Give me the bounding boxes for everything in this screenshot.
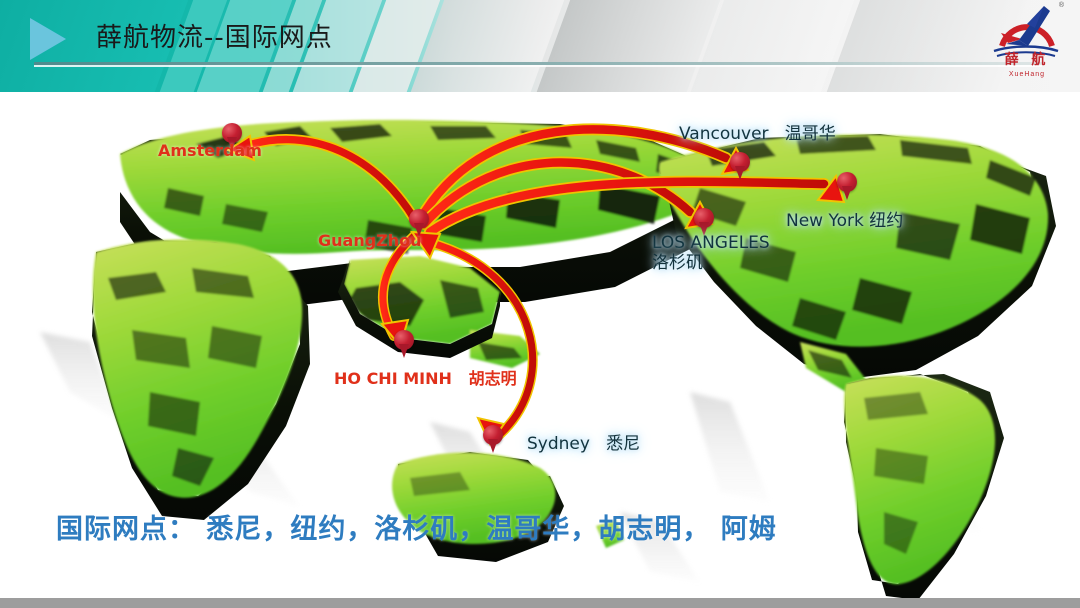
map-pin-sydney[interactable] [483, 425, 503, 453]
city-label-newyork-en: New York [786, 211, 864, 231]
play-triangle-icon [30, 18, 66, 60]
city-label-hochiminh-zh: 胡志明 [469, 369, 517, 388]
company-logo: ® 薛 航 XueHang [988, 2, 1066, 78]
city-label-guangzhou-en: GuangZhou [318, 231, 422, 250]
footer-bar [0, 598, 1080, 608]
city-label-vancouver-zh: 温哥华 [785, 124, 836, 144]
city-label-sydney-en: Sydney [527, 434, 590, 454]
international-network-caption: 国际网点： 悉尼，纽约，洛杉矶，温哥华，胡志明， 阿姆 [56, 507, 1056, 546]
pin-tip-icon [399, 344, 409, 358]
city-label-hochiminh-en: HO CHI MINH [334, 369, 452, 388]
world-map-stage: Amsterdam GuangZhou HO CHI MINH 胡志明 Sydn… [0, 92, 1080, 598]
slide-header: 薛航物流--国际网点 ® 薛 航 XueHang [0, 0, 1080, 92]
logo-english-name: XueHang [988, 71, 1066, 78]
city-label-newyork-zh: 纽约 [869, 211, 903, 231]
header-divider-shadow [34, 65, 1042, 67]
city-label-sydney: Sydney 悉尼 [527, 435, 640, 455]
city-label-vancouver-en: Vancouver [679, 124, 769, 144]
city-label-losangeles-zh: 洛杉矶 [652, 254, 770, 274]
city-label-losangeles-en: LOS ANGELES [652, 234, 770, 254]
city-label-sydney-zh: 悉尼 [606, 434, 640, 454]
logo-chinese-name: 薛 航 [988, 49, 1066, 69]
city-label-guangzhou: GuangZhou [318, 232, 422, 250]
map-pin-losangeles[interactable] [694, 208, 714, 236]
city-label-amsterdam-en: Amsterdam [158, 141, 262, 160]
city-label-vancouver: Vancouver 温哥华 [679, 125, 836, 145]
city-label-losangeles: LOS ANGELES 洛杉矶 [652, 234, 770, 273]
city-label-amsterdam: Amsterdam [158, 142, 262, 160]
pin-tip-icon [488, 439, 498, 453]
page-title: 薛航物流--国际网点 [96, 17, 333, 54]
city-label-hochiminh: HO CHI MINH 胡志明 [334, 370, 517, 388]
registered-mark: ® [1059, 2, 1064, 9]
pin-tip-icon [735, 166, 745, 180]
map-pin-hochiminh[interactable] [394, 330, 414, 358]
pin-tip-icon [842, 186, 852, 200]
city-label-newyork: New York 纽约 [786, 212, 903, 232]
map-pin-newyork[interactable] [837, 172, 857, 200]
map-pin-vancouver[interactable] [730, 152, 750, 180]
